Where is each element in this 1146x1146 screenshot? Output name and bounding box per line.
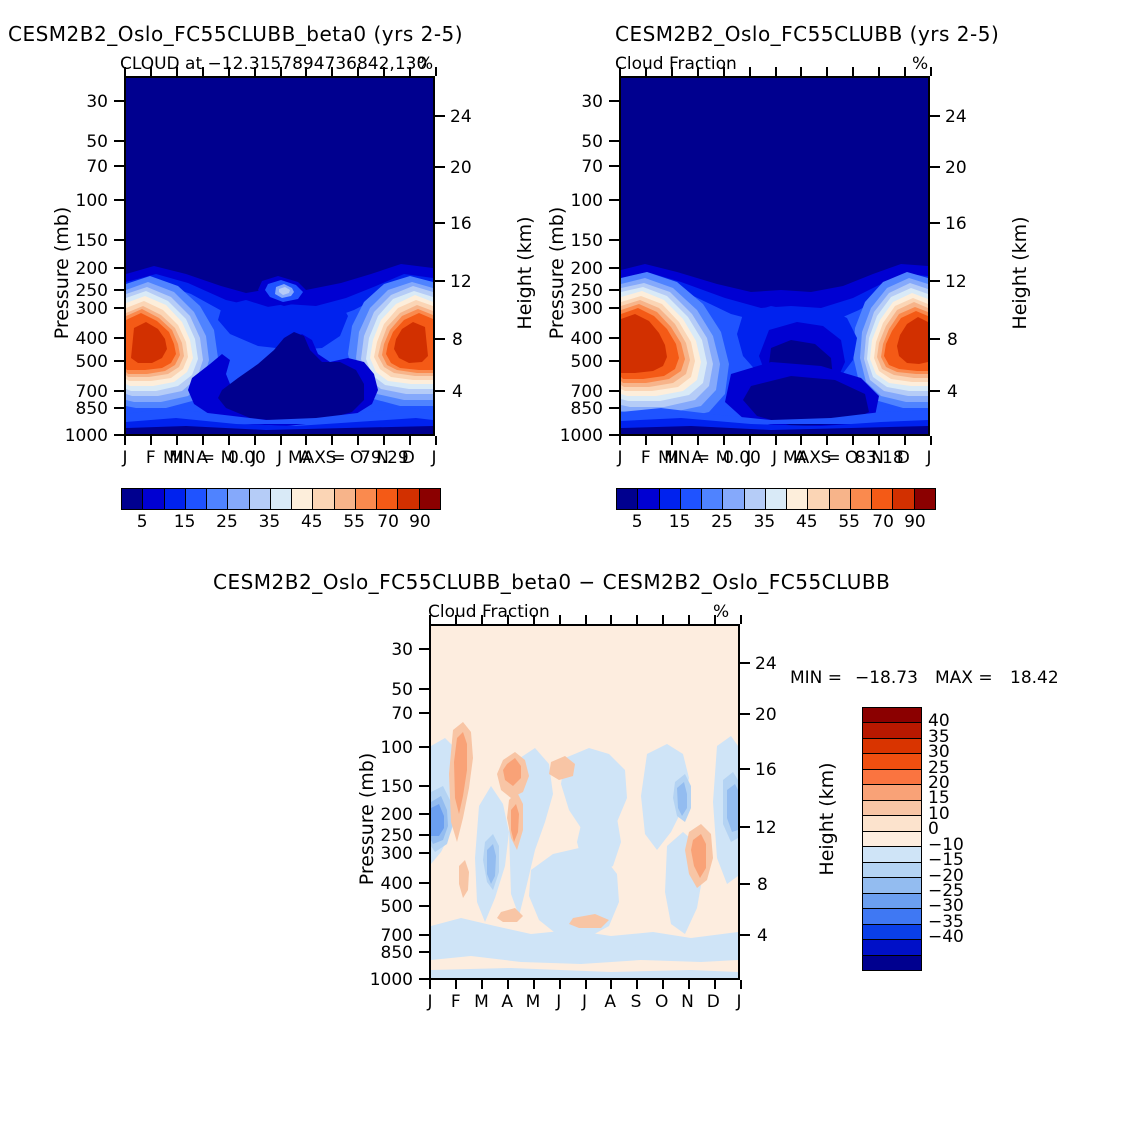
panel-difference-subtitle-left: Cloud Fraction	[428, 602, 550, 622]
axis-tick	[714, 980, 716, 989]
panel-control-title: CESM2B2_Oslo_FC55CLUBB (yrs 2-5)	[615, 22, 999, 46]
xtick-label: F	[635, 448, 657, 468]
colorbar-swatch	[335, 489, 356, 509]
axis-tick	[749, 436, 751, 445]
colorbar-swatch	[660, 489, 681, 509]
ytick-300: 300	[553, 299, 603, 319]
colorbar-tick-label: 15	[163, 512, 207, 532]
colorbar-swatch	[863, 785, 921, 800]
panel-case-min-label: MIN =	[163, 448, 215, 468]
ytick-250: 250	[363, 826, 413, 846]
panel-control-min-value: 0.00	[723, 448, 761, 468]
colorbar-swatch	[863, 956, 921, 970]
axis-tick	[826, 67, 828, 76]
colorbar-tick-label: 15	[658, 512, 702, 532]
ytick-150: 150	[363, 777, 413, 797]
ytick-100: 100	[58, 191, 108, 211]
axis-tick	[826, 436, 828, 445]
xtick-label: J	[918, 448, 940, 468]
panel-difference-title: CESM2B2_Oslo_FC55CLUBB_beta0 − CESM2B2_O…	[213, 570, 890, 594]
axis-tick	[305, 67, 307, 76]
xtick-label: D	[702, 992, 724, 1012]
axis-tick	[904, 436, 906, 445]
colorbar-swatch	[863, 739, 921, 754]
ytick-70: 70	[553, 157, 603, 177]
ytick-50: 50	[553, 132, 603, 152]
panel-case-plot-area	[124, 76, 435, 436]
colorbar-swatch	[766, 489, 787, 509]
axis-tick	[357, 436, 359, 445]
xtick-label: M	[471, 992, 493, 1012]
axis-tick	[507, 980, 509, 989]
colorbar-swatch	[863, 894, 921, 909]
xtick-label: J	[728, 992, 750, 1012]
ytick-500: 500	[363, 897, 413, 917]
axis-tick	[429, 980, 431, 989]
colorbar-swatch	[638, 489, 659, 509]
axis-tick	[481, 980, 483, 989]
axis-tick	[455, 615, 457, 624]
y2tick-24: 24	[945, 107, 967, 127]
panel-control-y2label: Height (km)	[1009, 188, 1031, 358]
axis-tick	[585, 615, 587, 624]
axis-tick	[533, 980, 535, 989]
axis-tick	[435, 436, 437, 445]
xtick-label: J	[609, 448, 631, 468]
colorbar-swatch	[165, 489, 186, 509]
colorbar-swatch	[398, 489, 419, 509]
colorbar-swatch	[808, 489, 829, 509]
axis-tick	[124, 67, 126, 76]
ytick-30: 30	[363, 640, 413, 660]
axis-tick	[150, 67, 152, 76]
y2tick-20: 20	[945, 158, 967, 178]
panel-difference-max-label: MAX =	[935, 668, 993, 688]
axis-tick	[150, 436, 152, 445]
axis-tick	[429, 615, 431, 624]
colorbar-swatch	[143, 489, 164, 509]
colorbar-swatch	[915, 489, 935, 509]
ytick-400: 400	[58, 329, 108, 349]
colorbar-swatch	[893, 489, 914, 509]
colorbar-tick-label: 5	[120, 512, 164, 532]
y2tick-8: 8	[947, 330, 958, 350]
y2tick-16: 16	[755, 760, 777, 780]
axis-tick	[409, 67, 411, 76]
axis-tick	[723, 436, 725, 445]
panel-difference-min-value: −18.73	[855, 668, 918, 688]
colorbar-swatch	[681, 489, 702, 509]
y2tick-12: 12	[450, 272, 472, 292]
axis-tick	[507, 615, 509, 624]
ytick-150: 150	[58, 231, 108, 251]
ytick-500: 500	[553, 352, 603, 372]
colorbar-tick-label: 90	[398, 512, 442, 532]
axis-tick	[481, 615, 483, 624]
colorbar-swatch	[313, 489, 334, 509]
axis-tick	[697, 436, 699, 445]
colorbar-swatch	[863, 847, 921, 862]
ytick-100: 100	[363, 738, 413, 758]
ytick-250: 250	[553, 281, 603, 301]
axis-tick	[645, 67, 647, 76]
axis-tick	[202, 436, 204, 445]
axis-tick	[852, 436, 854, 445]
y2tick-8: 8	[757, 875, 768, 895]
axis-tick	[254, 67, 256, 76]
panel-control-max-value: 83.18	[855, 448, 904, 468]
colorbar-swatch	[745, 489, 766, 509]
axis-tick	[176, 67, 178, 76]
ytick-50: 50	[363, 680, 413, 700]
colorbar-swatch	[830, 489, 851, 509]
axis-tick	[697, 67, 699, 76]
axis-tick	[357, 67, 359, 76]
xtick-label: O	[651, 992, 673, 1012]
panel-case-subtitle-right: %	[417, 54, 433, 74]
panel-case-max-value: 79.29	[360, 448, 409, 468]
ytick-850: 850	[363, 943, 413, 963]
colorbar-swatch	[863, 770, 921, 785]
axis-tick	[671, 436, 673, 445]
colorbar-tick-label: 5	[615, 512, 659, 532]
panel-case-y2label: Height (km)	[514, 188, 536, 358]
axis-tick	[610, 980, 612, 989]
ytick-300: 300	[58, 299, 108, 319]
ytick-1000: 1000	[48, 426, 108, 446]
colorbar-swatch	[207, 489, 228, 509]
axis-tick	[533, 615, 535, 624]
y2tick-24: 24	[755, 654, 777, 674]
panel-case-max-label: MAX =	[288, 448, 346, 468]
axis-tick	[585, 980, 587, 989]
xtick-label: S	[625, 992, 647, 1012]
axis-tick	[383, 436, 385, 445]
axis-tick	[559, 980, 561, 989]
colorbar-swatch	[863, 832, 921, 847]
ytick-70: 70	[58, 157, 108, 177]
colorbar-swatch	[723, 489, 744, 509]
ytick-1000: 1000	[353, 970, 413, 990]
colorbar-swatch	[863, 863, 921, 878]
axis-tick	[852, 67, 854, 76]
axis-tick	[610, 615, 612, 624]
axis-tick	[254, 436, 256, 445]
panel-case-min-value: 0.00	[228, 448, 266, 468]
ytick-850: 850	[58, 399, 108, 419]
y2tick-24: 24	[450, 107, 472, 127]
axis-tick	[331, 67, 333, 76]
ytick-30: 30	[58, 92, 108, 112]
ytick-850: 850	[553, 399, 603, 419]
ytick-70: 70	[363, 704, 413, 724]
ytick-1000: 1000	[543, 426, 603, 446]
panel-control-subtitle-left: Cloud Fraction	[615, 54, 737, 74]
axis-tick	[688, 615, 690, 624]
xtick-label: F	[445, 992, 467, 1012]
panel-difference-max-value: 18.42	[1010, 668, 1059, 688]
xtick-label: J	[548, 992, 570, 1012]
xtick-label: J	[114, 448, 136, 468]
axis-tick	[435, 67, 437, 76]
panel-difference-plot-area	[429, 624, 740, 980]
colorbar-swatch	[292, 489, 313, 509]
colorbar-tick-label: 25	[205, 512, 249, 532]
axis-tick	[662, 615, 664, 624]
colorbar-tick-label: 90	[893, 512, 937, 532]
ytick-200: 200	[363, 805, 413, 825]
axis-tick	[331, 436, 333, 445]
y2tick-20: 20	[755, 705, 777, 725]
colorbar-swatch	[356, 489, 377, 509]
ytick-400: 400	[363, 874, 413, 894]
panel-control-min-label: MIN =	[658, 448, 710, 468]
axis-tick	[749, 67, 751, 76]
axis-tick	[800, 67, 802, 76]
axis-tick	[671, 67, 673, 76]
axis-tick	[775, 436, 777, 445]
ytick-500: 500	[58, 352, 108, 372]
ytick-100: 100	[553, 191, 603, 211]
colorbar-swatch	[377, 489, 398, 509]
panel-control-plot-area	[619, 76, 930, 436]
colorbar-swatch	[122, 489, 143, 509]
axis-tick	[559, 615, 561, 624]
y2tick-12: 12	[945, 272, 967, 292]
axis-tick	[645, 436, 647, 445]
axis-tick	[202, 67, 204, 76]
axis-tick	[740, 980, 742, 989]
y2tick-16: 16	[945, 214, 967, 234]
panel-difference-colorbar	[862, 707, 922, 971]
axis-tick	[636, 980, 638, 989]
colorbar-swatch	[702, 489, 723, 509]
xtick-label: A	[599, 992, 621, 1012]
ytick-400: 400	[553, 329, 603, 349]
colorbar-swatch	[863, 878, 921, 893]
axis-tick	[280, 67, 282, 76]
colorbar-swatch	[420, 489, 440, 509]
panel-case-colorbar	[121, 488, 441, 510]
xtick-label: A	[496, 992, 518, 1012]
y2tick-20: 20	[450, 158, 472, 178]
ytick-30: 30	[553, 92, 603, 112]
colorbar-swatch	[863, 816, 921, 831]
axis-tick	[636, 615, 638, 624]
colorbar-swatch	[617, 489, 638, 509]
ytick-200: 200	[553, 259, 603, 279]
axis-tick	[714, 615, 716, 624]
panel-case-title: CESM2B2_Oslo_FC55CLUBB_beta0 (yrs 2-5)	[8, 22, 463, 46]
ytick-200: 200	[58, 259, 108, 279]
axis-tick	[775, 67, 777, 76]
colorbar-tick-label: 45	[785, 512, 829, 532]
axis-tick	[904, 67, 906, 76]
axis-tick	[228, 436, 230, 445]
colorbar-swatch	[271, 489, 292, 509]
y2tick-4: 4	[757, 926, 768, 946]
axis-tick	[688, 980, 690, 989]
y2tick-4: 4	[947, 382, 958, 402]
axis-tick	[409, 436, 411, 445]
panel-difference-min-label: MIN =	[790, 668, 842, 688]
colorbar-tick-label: 45	[290, 512, 334, 532]
axis-tick	[619, 436, 621, 445]
colorbar-swatch	[250, 489, 271, 509]
xtick-label: F	[140, 448, 162, 468]
axis-tick	[176, 436, 178, 445]
axis-tick	[930, 67, 932, 76]
axis-tick	[930, 436, 932, 445]
xtick-label: M	[522, 992, 544, 1012]
y2tick-12: 12	[755, 818, 777, 838]
colorbar-swatch	[863, 909, 921, 924]
panel-control-max-label: MAX =	[783, 448, 841, 468]
ytick-300: 300	[363, 844, 413, 864]
axis-tick	[228, 67, 230, 76]
colorbar-tick-label: −40	[928, 927, 964, 947]
axis-tick	[619, 67, 621, 76]
axis-tick	[305, 436, 307, 445]
panel-control-subtitle-right: %	[912, 54, 928, 74]
axis-tick	[662, 980, 664, 989]
axis-tick	[878, 436, 880, 445]
panel-control-colorbar	[616, 488, 936, 510]
ytick-150: 150	[553, 231, 603, 251]
colorbar-swatch	[872, 489, 893, 509]
xtick-label: N	[677, 992, 699, 1012]
panel-case-subtitle-left: CLOUD at −12.3157894736842,130	[120, 54, 427, 74]
colorbar-tick-label: 35	[247, 512, 291, 532]
colorbar-swatch	[228, 489, 249, 509]
y2tick-4: 4	[452, 382, 463, 402]
ytick-250: 250	[58, 281, 108, 301]
colorbar-tick-label: 25	[700, 512, 744, 532]
xtick-label: J	[574, 992, 596, 1012]
colorbar-swatch	[787, 489, 808, 509]
colorbar-swatch	[186, 489, 207, 509]
y2tick-16: 16	[450, 214, 472, 234]
axis-tick	[280, 436, 282, 445]
panel-difference-y2label: Height (km)	[816, 734, 838, 904]
ytick-50: 50	[58, 132, 108, 152]
axis-tick	[740, 615, 742, 624]
y2tick-8: 8	[452, 330, 463, 350]
colorbar-swatch	[863, 723, 921, 738]
axis-tick	[800, 436, 802, 445]
axis-tick	[383, 67, 385, 76]
colorbar-swatch	[863, 940, 921, 955]
axis-tick	[455, 980, 457, 989]
colorbar-swatch	[863, 801, 921, 816]
colorbar-swatch	[863, 925, 921, 940]
colorbar-tick-label: 35	[742, 512, 786, 532]
axis-tick	[723, 67, 725, 76]
xtick-label: J	[419, 992, 441, 1012]
xtick-label: J	[423, 448, 445, 468]
axis-tick	[124, 436, 126, 445]
colorbar-swatch	[863, 708, 921, 723]
colorbar-swatch	[863, 754, 921, 769]
axis-tick	[878, 67, 880, 76]
colorbar-swatch	[851, 489, 872, 509]
